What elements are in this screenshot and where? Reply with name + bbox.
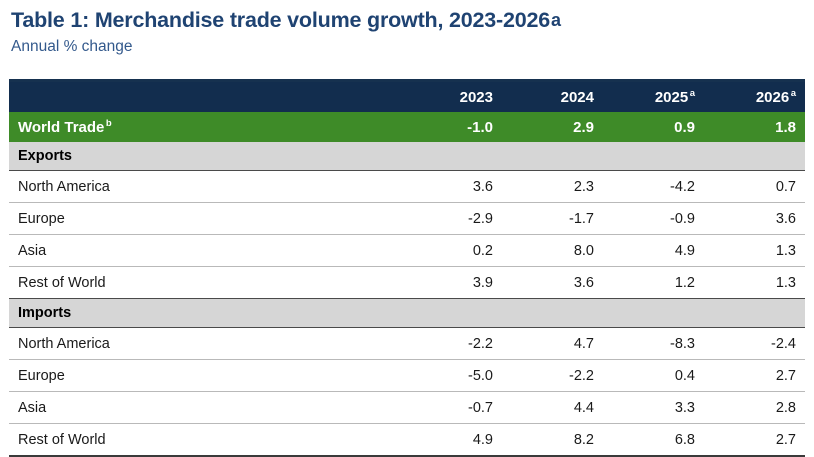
cell-2025: 0.4 [603,360,704,392]
header-footnote-2026: a [789,88,796,99]
section-title-imports: Imports [9,299,805,328]
cell-2023: -5.0 [401,360,502,392]
cell-2026: -2.4 [704,328,805,360]
world-trade-value-2026: 1.8 [704,112,805,142]
table-row: Europe -2.9 -1.7 -0.9 3.6 [9,203,805,235]
cell-2024: 4.4 [502,392,603,424]
cell-2026: 3.6 [704,203,805,235]
cell-2023: -2.9 [401,203,502,235]
cell-2025: 1.2 [603,267,704,299]
cell-2026: 2.8 [704,392,805,424]
cell-2026: 0.7 [704,171,805,203]
cell-2025: -0.9 [603,203,704,235]
row-label: Europe [9,360,401,392]
row-label: North America [9,171,401,203]
header-cell-2025: 2025a [603,82,704,112]
table-page: Table 1: Merchandise trade volume growth… [0,7,814,447]
section-header-exports: Exports [9,142,805,171]
cell-2025: -4.2 [603,171,704,203]
table-row: Asia 0.2 8.0 4.9 1.3 [9,235,805,267]
section-title-exports: Exports [9,142,805,171]
header-label-2024: 2024 [561,89,594,106]
cell-2026: 2.7 [704,360,805,392]
table-row: Rest of World 3.9 3.6 1.2 1.3 [9,267,805,299]
page-title-footnote-marker: a [550,10,561,30]
row-label: Rest of World [9,267,401,299]
page-title-text: Table 1: Merchandise trade volume growth… [11,8,550,32]
world-trade-label-cell: World Tradeb [9,112,401,142]
header-cell-2026: 2026a [704,82,805,112]
cell-2024: 4.7 [502,328,603,360]
table-row: North America 3.6 2.3 -4.2 0.7 [9,171,805,203]
row-label: Europe [9,203,401,235]
cell-2024: -2.2 [502,360,603,392]
cell-2025: -8.3 [603,328,704,360]
table-header-row: 2023 2024 2025a 2026a [9,82,805,112]
cell-2025: 4.9 [603,235,704,267]
row-label: Asia [9,392,401,424]
cell-2025: 3.3 [603,392,704,424]
page-title: Table 1: Merchandise trade volume growth… [11,7,805,34]
trade-volume-table: 2023 2024 2025a 2026a World Tradeb -1.0 … [9,79,805,457]
page-subtitle: Annual % change [11,37,805,56]
section-header-imports: Imports [9,299,805,328]
header-label-2026: 2026 [756,89,789,106]
cell-2023: 3.9 [401,267,502,299]
table-row-world-trade: World Tradeb -1.0 2.9 0.9 1.8 [9,112,805,142]
table-row: Europe -5.0 -2.2 0.4 2.7 [9,360,805,392]
table-row: Asia -0.7 4.4 3.3 2.8 [9,392,805,424]
cell-2023: 3.6 [401,171,502,203]
row-label: North America [9,328,401,360]
cell-2024: 2.3 [502,171,603,203]
table-row: North America -2.2 4.7 -8.3 -2.4 [9,328,805,360]
table-body: 2023 2024 2025a 2026a World Tradeb -1.0 … [9,79,805,456]
world-trade-value-2024: 2.9 [502,112,603,142]
cell-2023: 0.2 [401,235,502,267]
header-cell-blank [9,82,401,112]
world-trade-value-2023: -1.0 [401,112,502,142]
row-label: Asia [9,235,401,267]
world-trade-label: World Trade [18,119,104,136]
cell-2023: -0.7 [401,392,502,424]
cell-2024: 3.6 [502,267,603,299]
cell-2024: -1.7 [502,203,603,235]
header-label-2023: 2023 [460,89,493,106]
table-container: 2023 2024 2025a 2026a World Tradeb -1.0 … [9,79,805,457]
cell-2026: 1.3 [704,267,805,299]
header-cell-2024: 2024 [502,82,603,112]
header-cell-2023: 2023 [401,82,502,112]
cell-2024: 8.0 [502,235,603,267]
world-trade-value-2025: 0.9 [603,112,704,142]
world-trade-footnote: b [104,118,111,129]
cell-2026: 1.3 [704,235,805,267]
header-footnote-2025: a [688,88,695,99]
cell-2023: -2.2 [401,328,502,360]
header-label-2025: 2025 [655,89,688,106]
